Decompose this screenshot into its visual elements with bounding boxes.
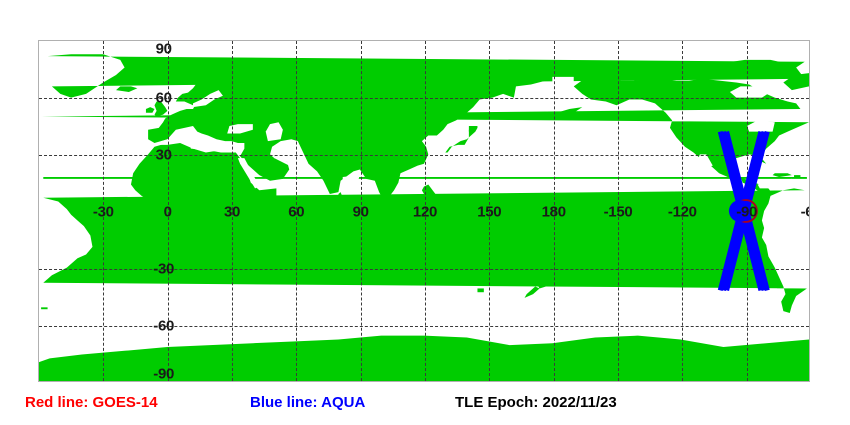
lon-label: 0 (164, 204, 172, 221)
lon-label: -60 (801, 204, 809, 221)
lat-label: 90 (156, 41, 172, 58)
lon-label: -90 (736, 204, 757, 221)
lon-label: -30 (93, 204, 114, 221)
map-canvas: 906030-30-60-90-300306090120150180-150-1… (39, 41, 809, 381)
lat-label: -90 (153, 366, 174, 382)
lat-label: 60 (156, 90, 172, 107)
legend-blue-line: Blue line: AQUA (250, 392, 365, 414)
legend-red-line: Red line: GOES-14 (25, 392, 158, 414)
lon-label: 180 (542, 204, 566, 221)
legend-tle-epoch: TLE Epoch: 2022/11/23 (455, 392, 617, 414)
lat-label: -30 (153, 261, 174, 278)
lat-label: -60 (153, 318, 174, 335)
lon-label: -150 (604, 204, 633, 221)
map-frame: 906030-30-60-90-300306090120150180-150-1… (38, 40, 810, 382)
satellite-ground-track-map: 906030-30-60-90-300306090120150180-150-1… (0, 0, 850, 425)
lon-label: -120 (668, 204, 697, 221)
legend: Red line: GOES-14 Blue line: AQUA TLE Ep… (0, 392, 850, 420)
lon-label: 90 (353, 204, 369, 221)
lon-label: 60 (288, 204, 304, 221)
lat-label: 30 (156, 147, 172, 164)
lon-label: 120 (413, 204, 437, 221)
lon-label: 30 (224, 204, 240, 221)
lon-label: 150 (477, 204, 501, 221)
